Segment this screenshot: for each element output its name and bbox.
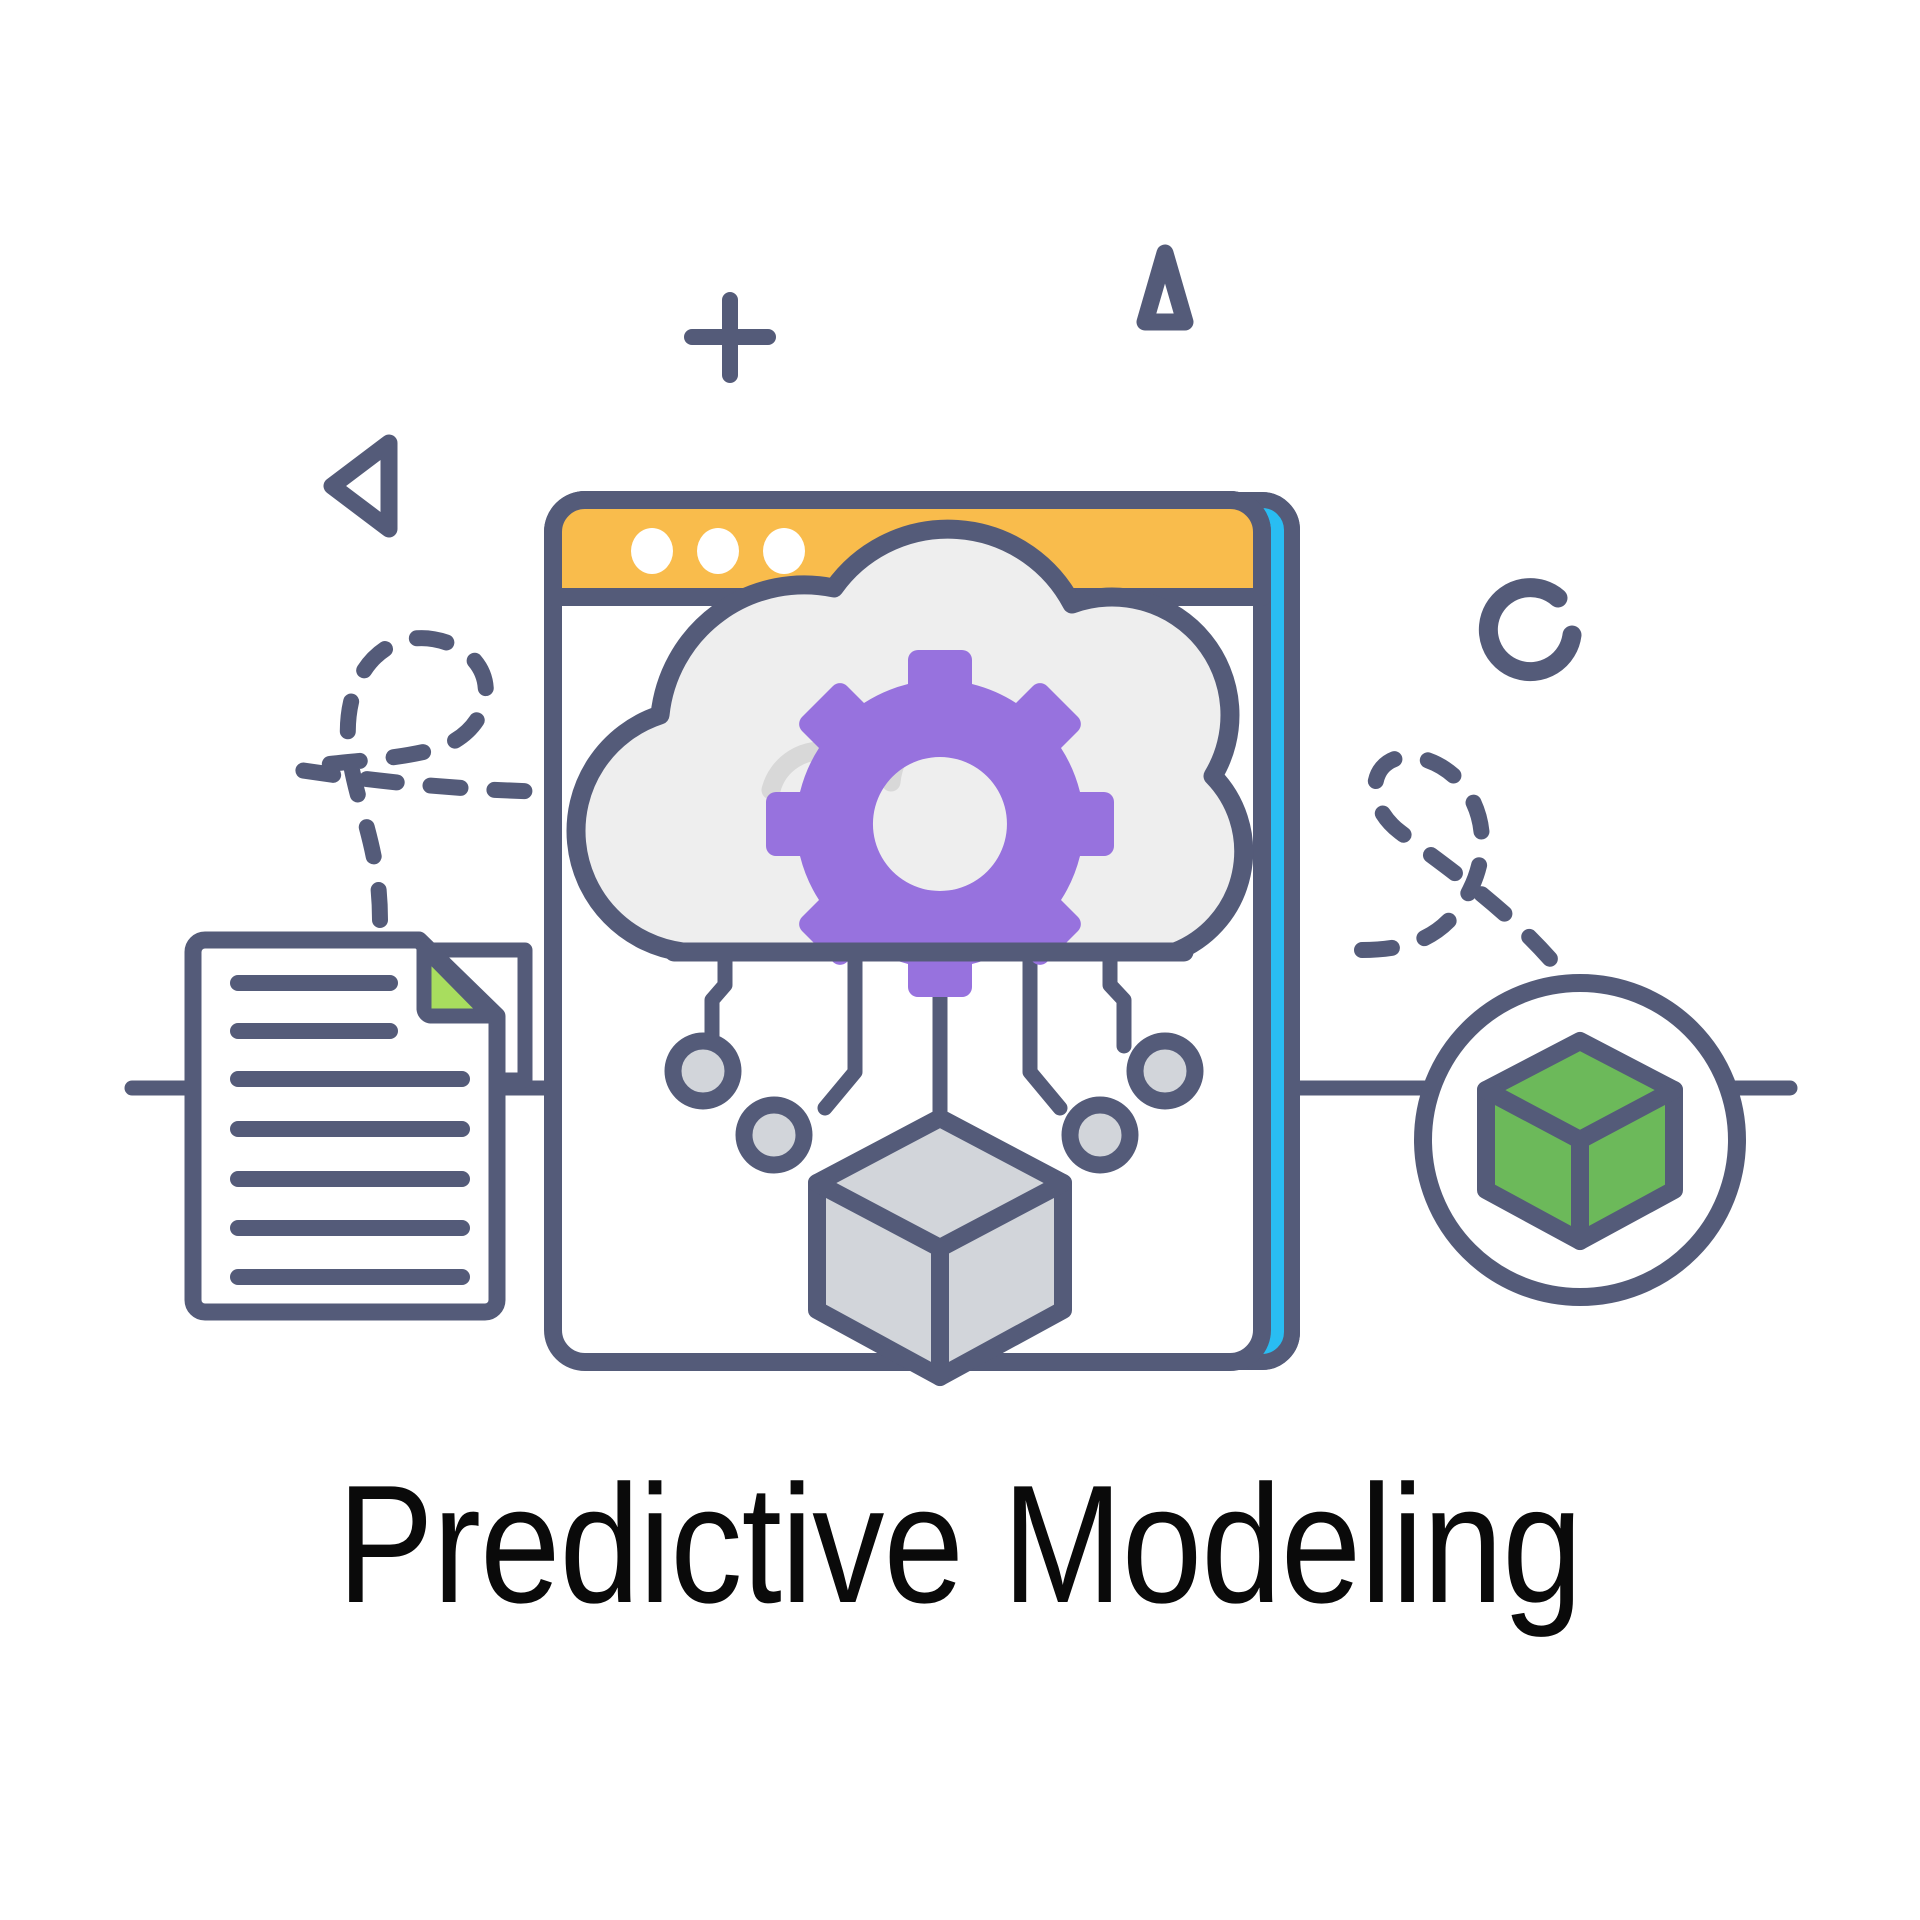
node-outer-right [1135,1041,1195,1101]
node-inner-right [1070,1105,1130,1165]
illustration-root: Predictive Modeling [0,0,1920,1920]
node-inner-left [744,1105,804,1165]
dashed-loop-left [300,638,580,920]
triangle-outline-icon [1145,253,1185,322]
browser-dot-2[interactable] [697,528,739,574]
dashed-loop-right [1362,757,1588,1010]
page-title: Predictive Modeling [338,1460,1582,1628]
green-cube-badge [1423,983,1737,1297]
document-icon [193,940,525,1312]
plus-icon [692,300,768,375]
play-left-triangle-icon [332,443,389,529]
browser-titlebar-dots[interactable] [631,528,805,574]
browser-dot-3[interactable] [763,528,805,574]
caption-layer: Predictive Modeling [0,1460,1920,1628]
partial-circle-icon [1488,588,1572,672]
grey-cube [817,1118,1063,1377]
node-outer-left [673,1041,733,1101]
browser-dot-1[interactable] [631,528,673,574]
